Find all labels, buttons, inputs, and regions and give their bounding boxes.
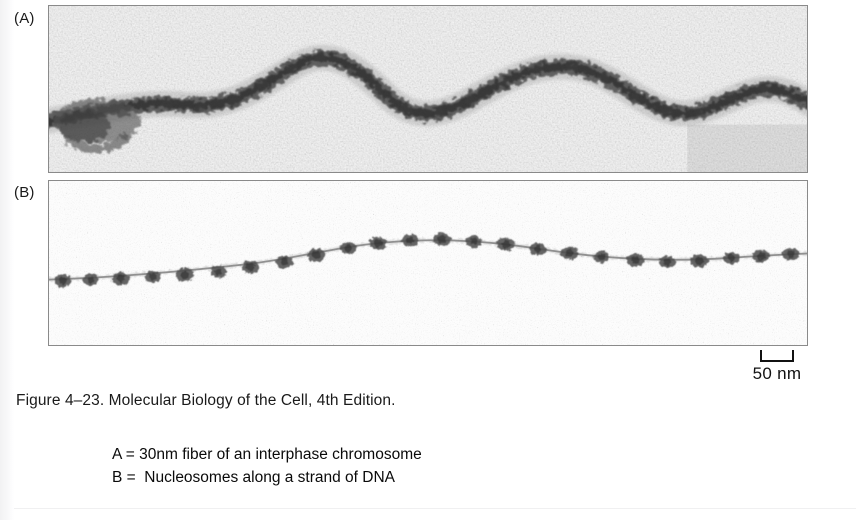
scale-bar-label: 50 nm	[722, 364, 832, 384]
micrograph-panel-b	[48, 180, 808, 346]
panel-label-a: (A)	[14, 10, 35, 27]
panel-label-b: (B)	[14, 184, 35, 201]
scale-bar-bracket-icon	[760, 350, 794, 362]
micrograph-panel-a	[48, 5, 808, 173]
legend-line-a: A = 30nm fiber of an interphase chromoso…	[112, 443, 422, 466]
scale-bar: 50 nm	[722, 350, 832, 384]
figure-caption: Figure 4–23. Molecular Biology of the Ce…	[16, 392, 396, 410]
figure-container: (A)	[0, 0, 856, 520]
figure-legend: A = 30nm fiber of an interphase chromoso…	[112, 443, 422, 489]
legend-line-b: B = Nucleosomes along a strand of DNA	[112, 466, 422, 489]
